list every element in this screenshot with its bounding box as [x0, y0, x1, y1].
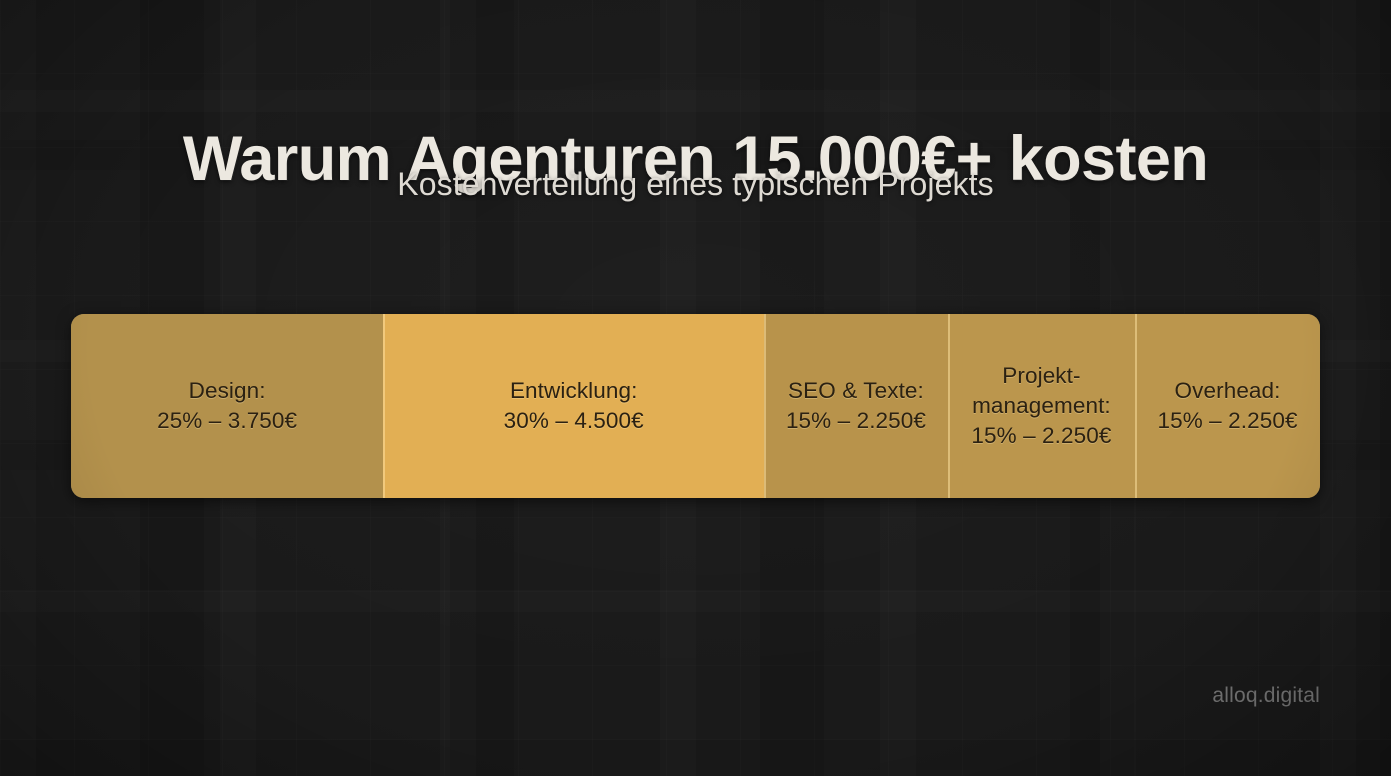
bar-segment-design: Design:25% – 3.750€ — [71, 314, 383, 498]
stacked-cost-bar: Design:25% – 3.750€Entwicklung:30% – 4.5… — [71, 314, 1320, 498]
bar-segment-seo-texte: SEO & Texte:15% – 2.250€ — [764, 314, 948, 498]
bar-segment-projektmanagement: Projekt-management:15% – 2.250€ — [948, 314, 1135, 498]
segment-label-line: management: — [971, 391, 1111, 421]
slide-canvas: Warum Agenturen 15.000€+ kosten Kostenve… — [0, 0, 1391, 776]
segment-label: Design:25% – 3.750€ — [157, 376, 297, 436]
segment-label-line: Overhead: — [1158, 376, 1298, 406]
segment-label-line: Projekt- — [971, 361, 1111, 391]
segment-label-line: Entwicklung: — [504, 376, 644, 406]
segment-label-line: 25% – 3.750€ — [157, 406, 297, 436]
segment-label-line: 30% – 4.500€ — [504, 406, 644, 436]
segment-label-line: Design: — [157, 376, 297, 406]
watermark: alloq.digital — [1212, 684, 1320, 708]
segment-label: SEO & Texte:15% – 2.250€ — [786, 376, 926, 436]
bar-segment-entwicklung: Entwicklung:30% – 4.500€ — [383, 314, 764, 498]
page-subtitle: Kostenverteilung eines typischen Projekt… — [0, 166, 1391, 203]
segment-label-line: 15% – 2.250€ — [1158, 406, 1298, 436]
bar-segment-overhead: Overhead:15% – 2.250€ — [1135, 314, 1320, 498]
segment-label: Projekt-management:15% – 2.250€ — [971, 361, 1111, 451]
segment-label: Overhead:15% – 2.250€ — [1158, 376, 1298, 436]
segment-label-line: SEO & Texte: — [786, 376, 926, 406]
segment-label-line: 15% – 2.250€ — [971, 421, 1111, 451]
segment-label-line: 15% – 2.250€ — [786, 406, 926, 436]
segment-label: Entwicklung:30% – 4.500€ — [504, 376, 644, 436]
